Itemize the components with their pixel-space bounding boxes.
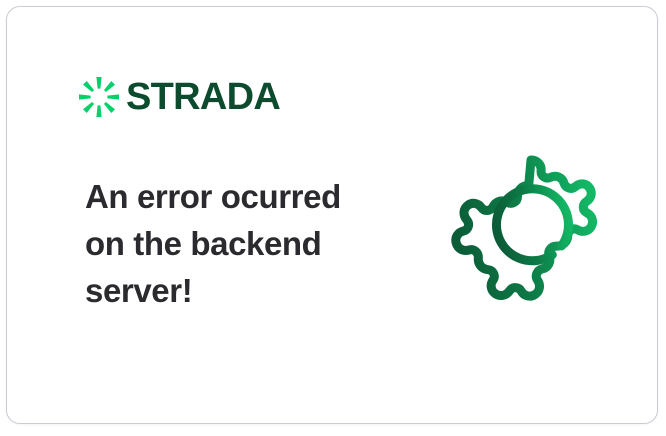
brand-wordmark: STRADA (126, 78, 280, 116)
strada-asterisk-icon (79, 77, 119, 117)
error-card: STRADA An error ocurred on the backend s… (6, 6, 658, 424)
brand-logo: STRADA (79, 73, 280, 121)
gear-icon (451, 147, 611, 307)
error-message: An error ocurred on the backend server! (85, 173, 385, 314)
